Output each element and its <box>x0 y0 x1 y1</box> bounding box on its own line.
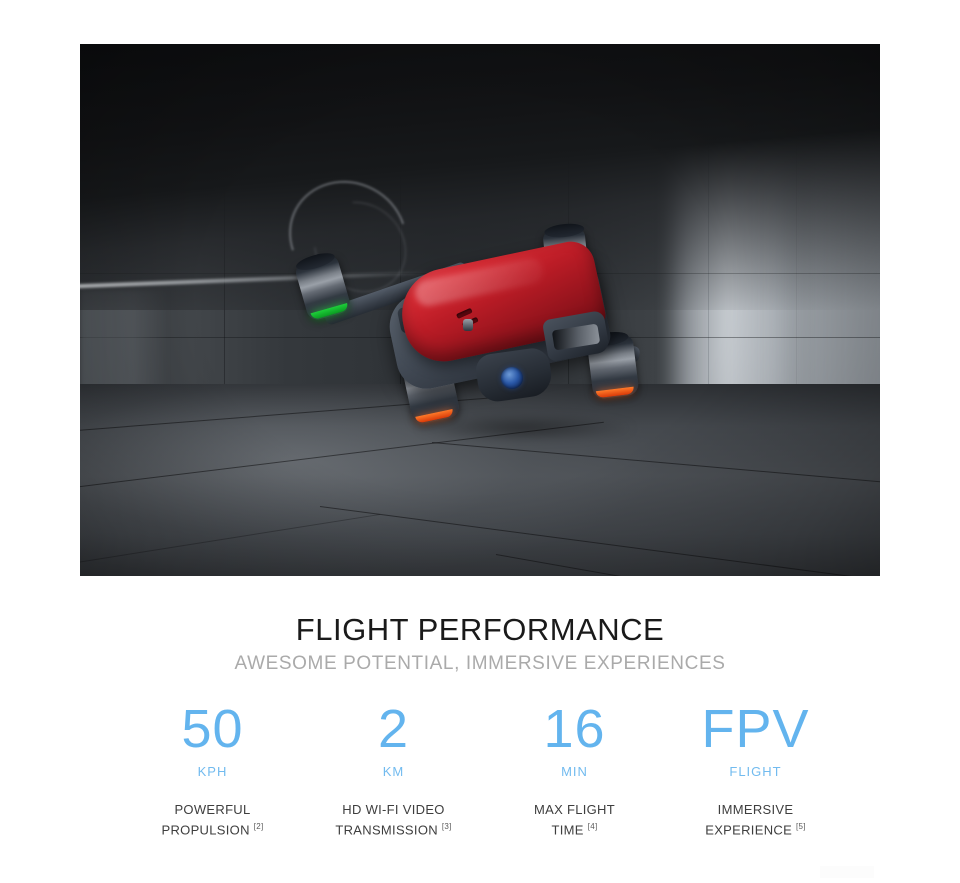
footnote-marker: [5] <box>796 822 806 831</box>
stat-description-line2: TIME <box>552 822 584 837</box>
section-subtitle: AWESOME POTENTIAL, IMMERSIVE EXPERIENCES <box>0 653 960 675</box>
stat-value: 16 <box>484 700 665 758</box>
stat-description: HD WI-FI VIDEO TRANSMISSION [3] <box>303 801 484 838</box>
stat-unit: MIN <box>484 764 665 779</box>
stat-unit: KPH <box>122 764 303 779</box>
stat-description-line1: HD WI-FI VIDEO <box>342 802 444 817</box>
stat-item: FPV FLIGHT IMMERSIVE EXPERIENCE [5] <box>665 700 846 838</box>
stat-value: 50 <box>122 700 303 758</box>
stat-description-line1: IMMERSIVE <box>718 802 794 817</box>
stat-description: IMMERSIVE EXPERIENCE [5] <box>665 801 846 838</box>
footnote-marker: [3] <box>442 822 452 831</box>
page-bottom-artifact <box>820 866 874 878</box>
stat-unit: FLIGHT <box>665 764 846 779</box>
photo-vignette <box>80 44 880 576</box>
product-feature-page: FLIGHT PERFORMANCE AWESOME POTENTIAL, IM… <box>0 0 960 883</box>
stat-item: 16 MIN MAX FLIGHT TIME [4] <box>484 700 665 838</box>
hero-product-photo <box>80 44 880 576</box>
stat-description: MAX FLIGHT TIME [4] <box>484 801 665 838</box>
stat-description: POWERFUL PROPULSION [2] <box>122 801 303 838</box>
stat-value: 2 <box>303 700 484 758</box>
stat-item: 50 KPH POWERFUL PROPULSION [2] <box>122 700 303 838</box>
stat-description-line1: POWERFUL <box>174 802 250 817</box>
section-title: FLIGHT PERFORMANCE <box>0 612 960 648</box>
stat-description-line2: PROPULSION <box>162 822 250 837</box>
stat-description-line2: TRANSMISSION <box>335 822 438 837</box>
stat-description-line1: MAX FLIGHT <box>534 802 615 817</box>
footnote-marker: [2] <box>254 822 264 831</box>
footnote-marker: [4] <box>588 822 598 831</box>
stat-unit: KM <box>303 764 484 779</box>
stat-description-line2: EXPERIENCE <box>705 822 792 837</box>
spec-stats-row: 50 KPH POWERFUL PROPULSION [2] 2 KM HD W… <box>122 700 846 838</box>
stat-value: FPV <box>665 700 846 758</box>
stat-item: 2 KM HD WI-FI VIDEO TRANSMISSION [3] <box>303 700 484 838</box>
